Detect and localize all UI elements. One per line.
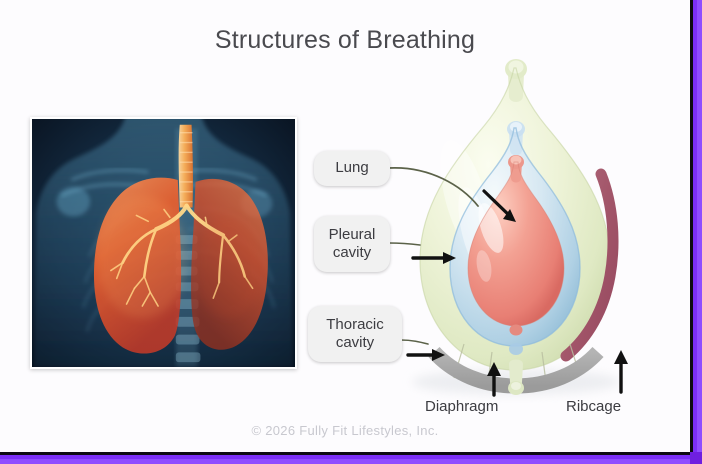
frame-accent-bottom	[0, 452, 702, 464]
callout-pleural-cavity[interactable]: Pleural cavity	[314, 216, 390, 272]
balloon-diagram	[392, 52, 670, 402]
label-ribcage: Ribcage	[566, 398, 621, 415]
callout-thoracic-cavity[interactable]: Thoracic cavity	[308, 306, 402, 362]
callout-pleural-line2: cavity	[333, 244, 371, 261]
balloon-diagram-svg	[392, 52, 670, 402]
frame-accent-corner	[690, 452, 702, 464]
callout-thoracic-line1: Thoracic	[326, 316, 384, 333]
callout-lung[interactable]: Lung	[314, 151, 390, 186]
callout-pleural-cavity-label: Pleural cavity	[329, 226, 376, 263]
shoulder-joint-left	[57, 187, 90, 217]
thoracic-bottom-knot	[508, 360, 524, 396]
trachea	[179, 125, 193, 208]
label-diaphragm: Diaphragm	[425, 398, 498, 415]
lung-anatomy-image	[30, 117, 297, 369]
page-title: Structures of Breathing	[0, 26, 690, 55]
callout-pleural-line1: Pleural	[329, 226, 376, 243]
callout-thoracic-line2: cavity	[336, 334, 374, 351]
callout-thoracic-cavity-label: Thoracic cavity	[326, 316, 384, 353]
slide-canvas: Structures of Breathing	[0, 0, 702, 464]
lung-anatomy-illustration	[32, 119, 295, 367]
copyright-footer: © 2026 Fully Fit Lifestyles, Inc.	[0, 423, 690, 438]
frame-accent-right	[690, 0, 702, 464]
callout-lung-label: Lung	[335, 159, 368, 177]
